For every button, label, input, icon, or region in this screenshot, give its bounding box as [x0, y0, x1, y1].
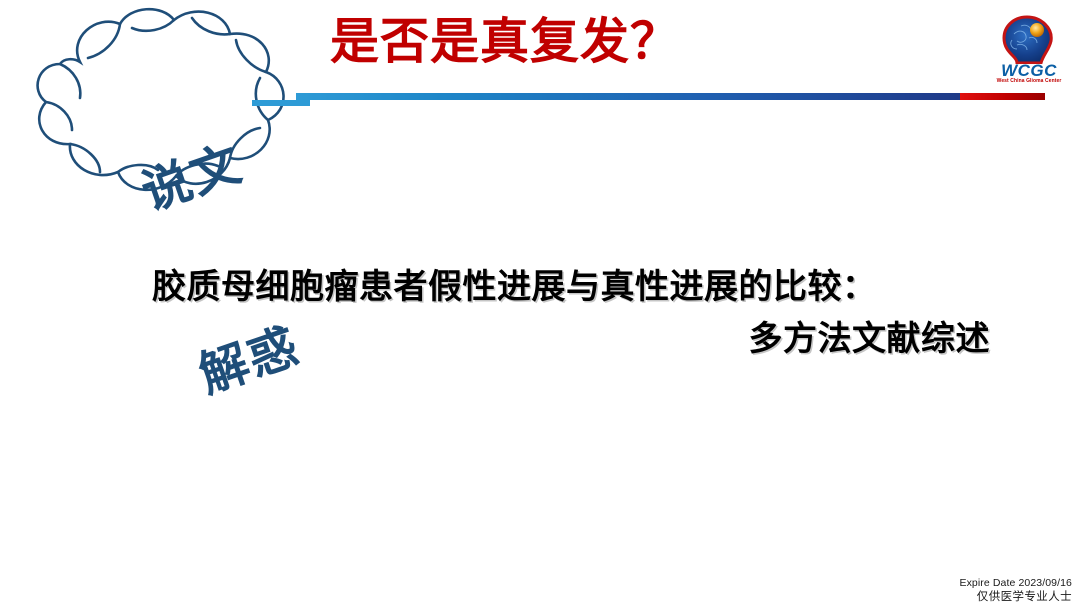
footer-expire-date: Expire Date 2023/09/16	[959, 576, 1072, 590]
slide-body-text: 胶质母细胞瘤患者假性进展与真性进展的比较： 多方法文献综述	[152, 262, 990, 365]
wcgc-logo: WCGC West China Glioma Center	[993, 14, 1065, 92]
slide-footer: Expire Date 2023/09/16 仅供医学专业人士	[959, 576, 1072, 606]
page-title: 是否是真复发？	[330, 14, 680, 70]
cloud-badge: 说文 解惑	[8, 0, 318, 210]
brain-head-icon	[999, 14, 1057, 64]
footer-notice: 仅供医学专业人士	[959, 590, 1072, 606]
logo-subtitle: West China Glioma Center	[994, 78, 1063, 84]
header-divider	[296, 93, 1045, 100]
presentation-slide: 说文 解惑 是否是真复发？	[0, 0, 1080, 608]
header-divider-blue-segment	[296, 93, 960, 100]
cloud-badge-line-1: 说文	[72, 112, 314, 248]
header-divider-red-segment	[960, 93, 1045, 100]
body-line-1: 胶质母细胞瘤患者假性进展与真性进展的比较：	[152, 262, 990, 314]
body-line-2: 多方法文献综述	[152, 314, 990, 366]
